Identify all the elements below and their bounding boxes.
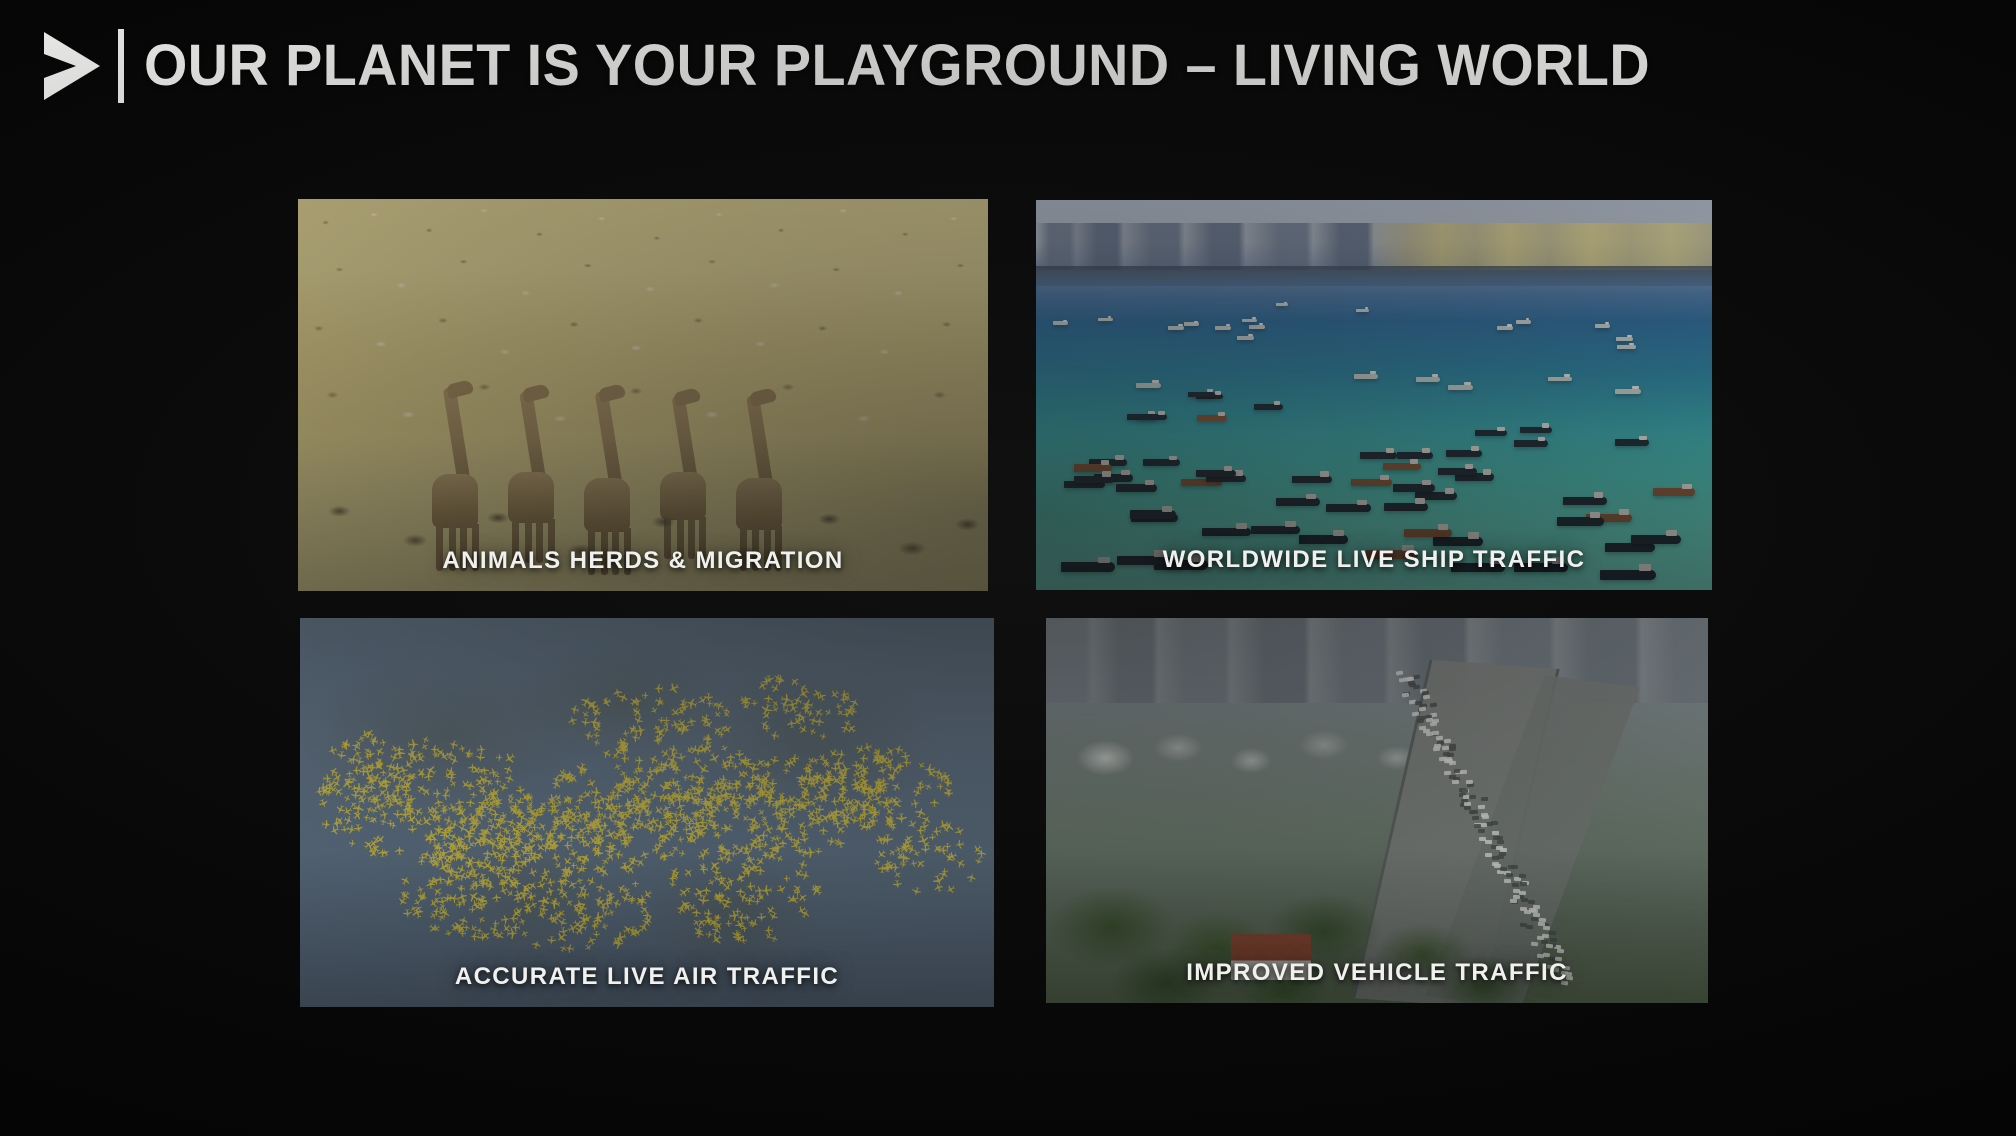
presentation-slide: OUR PLANET IS YOUR PLAYGROUND – LIVING W… [0,0,2016,1136]
aircraft-marker [900,752,910,762]
aircraft-marker [580,710,590,720]
aircraft-marker [788,675,801,688]
vehicle-marker [1422,695,1430,700]
cargo-ship [1356,309,1369,312]
aircraft-marker [486,816,496,826]
aircraft-marker [837,750,847,760]
aircraft-marker [463,748,474,759]
aircraft-marker [407,825,417,835]
aircraft-marker [782,767,790,775]
aircraft-marker [385,768,397,780]
aircraft-marker [600,747,612,759]
aircraft-marker [676,752,687,763]
aircraft-marker [379,739,387,747]
aircraft-marker [885,770,898,783]
aircraft-marker [503,773,515,785]
aircraft-marker [770,730,781,741]
aircraft-marker [566,714,577,725]
aircraft-marker [820,732,829,741]
aircraft-marker [617,692,629,704]
aircraft-marker [350,740,362,752]
aircraft-marker [777,790,787,800]
aircraft-marker [807,727,816,736]
aircraft-marker [576,797,584,805]
aircraft-marker [433,797,444,808]
aircraft-marker [593,732,601,740]
vehicle-marker [1497,840,1504,844]
aircraft-marker [606,792,617,803]
aircraft-marker [506,792,516,802]
aircraft-marker [707,751,722,766]
aircraft-marker [765,761,772,768]
aircraft-marker [635,756,644,765]
aircraft-marker [506,817,518,829]
vehicle-marker [1442,746,1449,751]
aircraft-marker [954,826,966,838]
cargo-ship [1254,404,1283,410]
aircraft-marker [944,843,951,850]
aircraft-marker [647,753,659,765]
vehicle-marker [1399,678,1407,683]
aircraft-marker [661,802,673,814]
aircraft-marker [705,699,713,707]
aircraft-marker [621,729,629,737]
aircraft-marker [419,814,434,829]
aircraft-marker [930,798,939,807]
aircraft-marker [835,838,846,849]
aircraft-marker [503,764,515,776]
aircraft-marker [603,828,618,843]
aircraft-marker [685,696,699,710]
aircraft-marker [684,746,694,756]
aircraft-marker [592,738,601,747]
aircraft-marker [528,837,537,846]
aircraft-marker [351,809,364,822]
cargo-ship [1053,321,1068,325]
aircraft-marker [893,744,904,755]
tile-caption-animals: ANIMALS HERDS & MIGRATION [298,547,988,575]
aircraft-marker [370,815,380,825]
aircraft-marker [322,820,332,830]
aircraft-marker [839,695,849,705]
aircraft-marker [757,807,767,817]
aircraft-marker [600,812,609,821]
aircraft-marker [759,702,773,716]
aircraft-marker [620,753,630,763]
aircraft-marker [860,805,869,814]
aircraft-marker [720,744,729,753]
aircraft-marker [764,694,774,704]
aircraft-marker [848,697,860,709]
vehicle-marker [1481,797,1488,801]
aircraft-marker [713,709,723,719]
aircraft-marker [569,704,580,715]
aircraft-marker [726,753,735,762]
vehicle-marker [1486,822,1493,826]
cargo-ship [1617,345,1636,349]
aircraft-marker [835,707,845,717]
vehicle-marker [1426,731,1433,736]
aircraft-marker [769,755,780,766]
aircraft-marker [379,818,388,827]
cargo-ship [1516,320,1531,323]
aircraft-marker [506,797,516,807]
aircraft-marker [442,815,453,826]
tile-caption-air-traffic: ACCURATE LIVE AIR TRAFFIC [300,963,994,991]
cargo-ship [1497,326,1513,330]
aircraft-marker [735,750,744,759]
vehicle-marker [1466,780,1473,784]
vehicle-marker [1482,815,1489,819]
aircraft-marker [917,761,927,771]
aircraft-marker [802,698,815,711]
aircraft-marker [402,791,409,798]
aircraft-marker [643,771,655,783]
aircraft-marker [823,707,833,717]
aircraft-marker [600,696,612,708]
aircraft-marker [423,763,438,778]
cargo-ship [1237,336,1255,340]
aircraft-marker [477,744,487,754]
aircraft-marker [721,805,731,815]
vehicle-marker [1430,703,1437,708]
aircraft-marker [654,683,663,692]
aircraft-marker [668,744,679,755]
aircraft-marker [458,744,466,752]
cargo-ship [1242,319,1257,322]
aircraft-marker [385,761,396,772]
cargo-ship [1184,322,1199,326]
vehicle-marker [1395,670,1403,675]
vehicle-marker [1436,736,1443,741]
tile-caption-vehicle-traffic: IMPROVED VEHICLE TRAFFIC [1046,959,1708,987]
aircraft-marker [343,815,355,827]
aircraft-marker [412,806,424,818]
aircraft-marker [441,791,450,800]
aircraft-marker [415,782,428,795]
aircraft-marker [931,827,941,837]
aircraft-marker [819,826,828,835]
vehicle-marker [1443,738,1450,743]
vehicle-marker [1449,744,1456,749]
aircraft-marker [681,773,689,781]
vehicle-marker [1452,780,1459,784]
vehicle-marker [1433,747,1440,752]
aircraft-marker [433,825,443,835]
aircraft-marker [398,765,409,776]
cargo-ship [1137,414,1167,420]
vehicle-marker [1474,824,1481,828]
feature-tile-vehicle-traffic[interactable]: IMPROVED VEHICLE TRAFFIC [1046,618,1708,1003]
aircraft-marker [703,733,713,743]
vehicle-marker [1485,840,1492,844]
aircraft-marker [443,786,451,794]
aircraft-marker [677,835,685,843]
aircraft-marker [764,769,773,778]
aircraft-marker [937,783,945,791]
aircraft-marker [327,765,339,777]
aircraft-marker [390,743,399,752]
aircraft-marker [896,812,908,824]
aircraft-marker [364,760,376,772]
aircraft-marker [662,725,671,734]
aircraft-marker [885,746,897,758]
aircraft-marker [806,709,815,718]
aircraft-marker [785,808,798,821]
aircraft-marker [349,776,358,785]
aircraft-marker [924,782,933,791]
aircraft-marker [397,815,407,825]
aircraft-marker [834,702,843,711]
aircraft-marker [491,810,500,819]
feature-tile-ships[interactable]: WORLDWIDE LIVE SHIP TRAFFIC [1036,200,1712,590]
aircraft-marker [346,770,353,777]
aircraft-marker [346,824,357,835]
vehicle-marker [1402,693,1410,698]
tile-caption-ships: WORLDWIDE LIVE SHIP TRAFFIC [1036,546,1712,574]
cargo-ship [1136,383,1161,388]
aircraft-marker [816,793,824,801]
aircraft-marker [496,754,504,762]
aircraft-marker [498,782,509,793]
aircraft-marker [670,778,682,790]
aircraft-marker [448,739,459,750]
aircraft-marker [368,737,378,747]
vehicle-marker [1472,816,1479,820]
aircraft-marker [797,723,810,736]
feature-tile-animals[interactable]: ANIMALS HERDS & MIGRATION [298,199,988,591]
aircraft-marker [650,706,660,716]
aircraft-marker [583,730,594,741]
aircraft-marker [808,799,817,808]
aircraft-marker [759,830,768,839]
aircraft-marker [423,771,433,781]
aircraft-marker [563,840,572,849]
vehicle-marker [1480,823,1487,827]
aircraft-marker [362,813,370,821]
aircraft-marker [449,779,459,789]
aircraft-marker [632,715,644,727]
cargo-ship [1197,415,1227,421]
vehicle-marker [1418,706,1425,711]
aircraft-marker [787,718,797,728]
cargo-ship [1448,385,1473,390]
aircraft-marker [830,797,840,807]
vehicle-marker [1448,775,1455,779]
cargo-ship [1615,389,1641,394]
cargo-ship [1276,303,1288,306]
aircraft-marker [374,745,386,757]
aircraft-marker [750,699,758,707]
aircraft-marker [761,841,769,849]
aircraft-marker [850,815,861,826]
aircraft-marker [421,735,430,744]
aircraft-marker [563,793,575,805]
aircraft-marker [332,785,345,798]
aircraft-marker [666,681,681,696]
vehicle-marker [1447,753,1454,758]
aircraft-marker [348,839,356,847]
aircraft-marker [336,750,346,760]
cargo-ship [1098,318,1113,321]
aircraft-marker [943,785,955,797]
aircraft-marker [353,823,363,833]
aircraft-marker [712,829,722,839]
vehicle-marker [1469,810,1476,814]
aircraft-marker [329,825,341,837]
aircraft-marker [465,797,475,807]
vehicle-marker [1416,718,1423,723]
cargo-ship [1188,392,1215,397]
aircraft-marker [380,769,388,777]
aircraft-marker [407,738,418,749]
aircraft-marker [334,803,346,815]
aircraft-marker [691,756,703,768]
aircraft-marker [686,716,697,727]
cargo-ship [1595,324,1611,328]
aircraft-marker [343,794,352,803]
vehicle-marker [1492,831,1499,835]
aircraft-marker [859,753,868,762]
aircraft-marker [327,745,338,756]
feature-tile-air-traffic[interactable]: ACCURATE LIVE AIR TRAFFIC [300,618,994,1007]
vehicle-marker [1449,761,1456,766]
cargo-ship [1520,427,1552,433]
cargo-ship [1249,325,1265,329]
vehicle-marker [1478,829,1485,833]
aircraft-marker [629,820,642,833]
aircraft-marker [906,819,918,831]
aircraft-marker [855,743,867,755]
aircraft-marker [771,704,780,713]
aircraft-marker [743,801,753,811]
aircraft-marker [826,836,837,847]
vehicle-marker [1430,722,1437,727]
aircraft-marker [431,751,440,760]
aircraft-marker [696,695,708,707]
aircraft-marker [516,785,526,795]
aircraft-marker [910,798,921,809]
feature-tile-grid: ANIMALS HERDS & MIGRATION WORLDWIDE LIVE… [0,0,2016,1136]
aircraft-marker [833,758,845,770]
aircraft-marker [433,789,442,798]
aircraft-marker [641,692,648,699]
vehicle-marker [1460,770,1467,774]
aircraft-marker [954,839,965,850]
aircraft-marker [636,766,645,775]
aircraft-marker [842,719,851,728]
aircraft-marker [590,723,603,736]
aircraft-marker [419,742,429,752]
aircraft-marker [652,804,665,817]
aircraft-marker [568,824,578,834]
aircraft-marker [920,813,932,825]
aircraft-marker [580,717,590,727]
cargo-ship [1616,337,1634,341]
cargo-ship [1416,377,1440,382]
aircraft-marker [494,778,501,785]
aircraft-marker [760,819,770,829]
aircraft-marker [363,838,376,851]
aircraft-marker [475,752,485,762]
aircraft-marker [470,791,477,798]
cargo-ship [1548,377,1572,382]
aircraft-marker [318,798,330,810]
aircraft-marker [444,765,456,777]
cargo-ship [1215,326,1231,330]
aircraft-marker [771,699,781,709]
aircraft-marker [692,772,708,788]
aircraft-marker [613,762,622,771]
vehicle-marker [1478,805,1485,809]
aircraft-marker [929,834,936,841]
aircraft-marker [502,751,517,766]
aircraft-marker [890,780,902,792]
cargo-ship [1168,326,1184,330]
cargo-ship [1354,374,1378,379]
aircraft-marker [449,754,461,766]
aircraft-marker [828,688,841,701]
aircraft-marker [884,761,893,770]
aircraft-marker [824,767,833,776]
aircraft-marker [430,745,439,754]
vehicle-marker [1469,795,1476,799]
aircraft-marker [630,732,640,742]
aircraft-marker [581,788,594,801]
aircraft-marker [835,823,848,836]
